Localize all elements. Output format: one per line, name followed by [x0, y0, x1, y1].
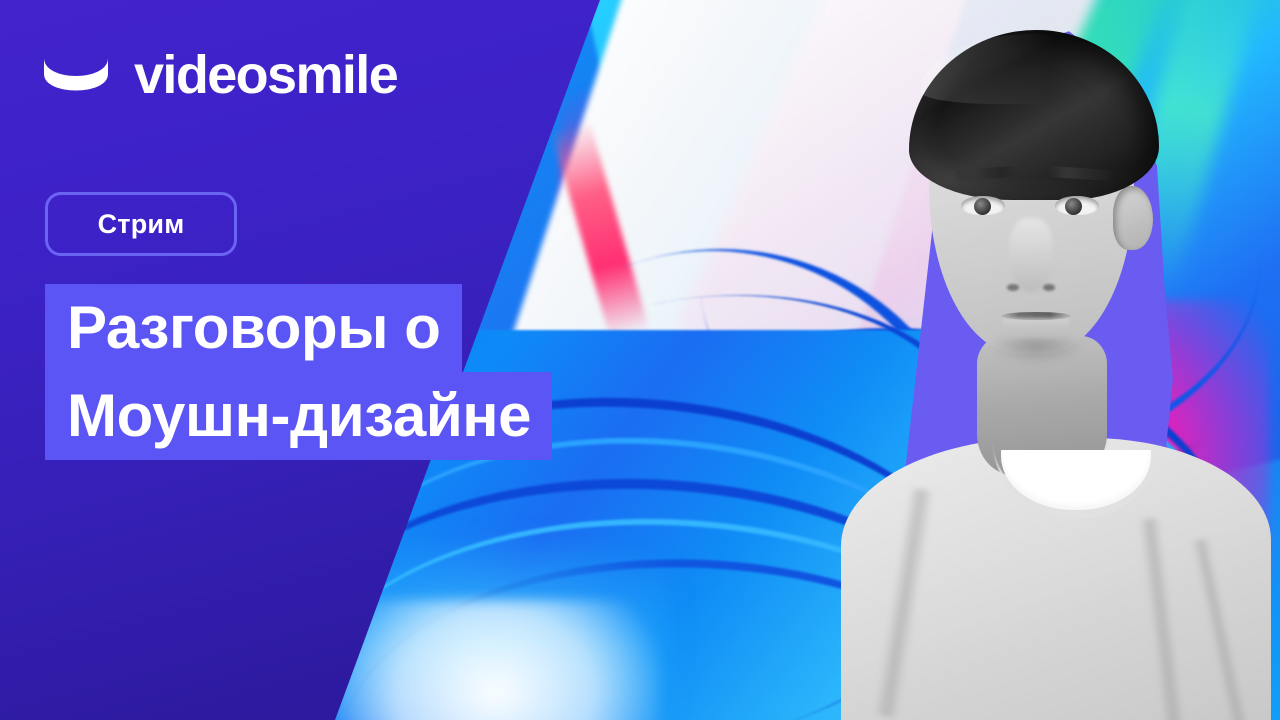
portrait-iris-left — [974, 198, 991, 215]
stream-badge[interactable]: Стрим — [45, 192, 237, 256]
portrait-cutout — [845, 0, 1280, 720]
portrait-ear — [1113, 186, 1153, 250]
brand-logo[interactable]: videosmile — [40, 48, 397, 102]
portrait-chin-shadow — [991, 338, 1083, 364]
portrait-hair-highlight — [921, 34, 1136, 104]
smile-arc-icon — [40, 52, 112, 98]
stream-cover: videosmile Стрим Разговоры о Моушн-дизай… — [0, 0, 1280, 720]
headline-line-2: Моушн-дизайне — [45, 372, 552, 460]
portrait-nose — [1009, 218, 1053, 292]
stream-badge-label: Стрим — [98, 209, 185, 240]
headline: Разговоры о Моушн-дизайне — [45, 284, 552, 460]
art-white-glow — [330, 600, 660, 720]
brand-logo-text: videosmile — [134, 48, 397, 102]
headline-line-1: Разговоры о — [45, 284, 462, 372]
portrait-iris-right — [1065, 198, 1082, 215]
portrait-nostril-right — [1043, 284, 1055, 291]
portrait-nostril-left — [1007, 284, 1019, 291]
portrait-lower-lip — [1003, 318, 1069, 332]
portrait-figure — [851, 18, 1243, 720]
